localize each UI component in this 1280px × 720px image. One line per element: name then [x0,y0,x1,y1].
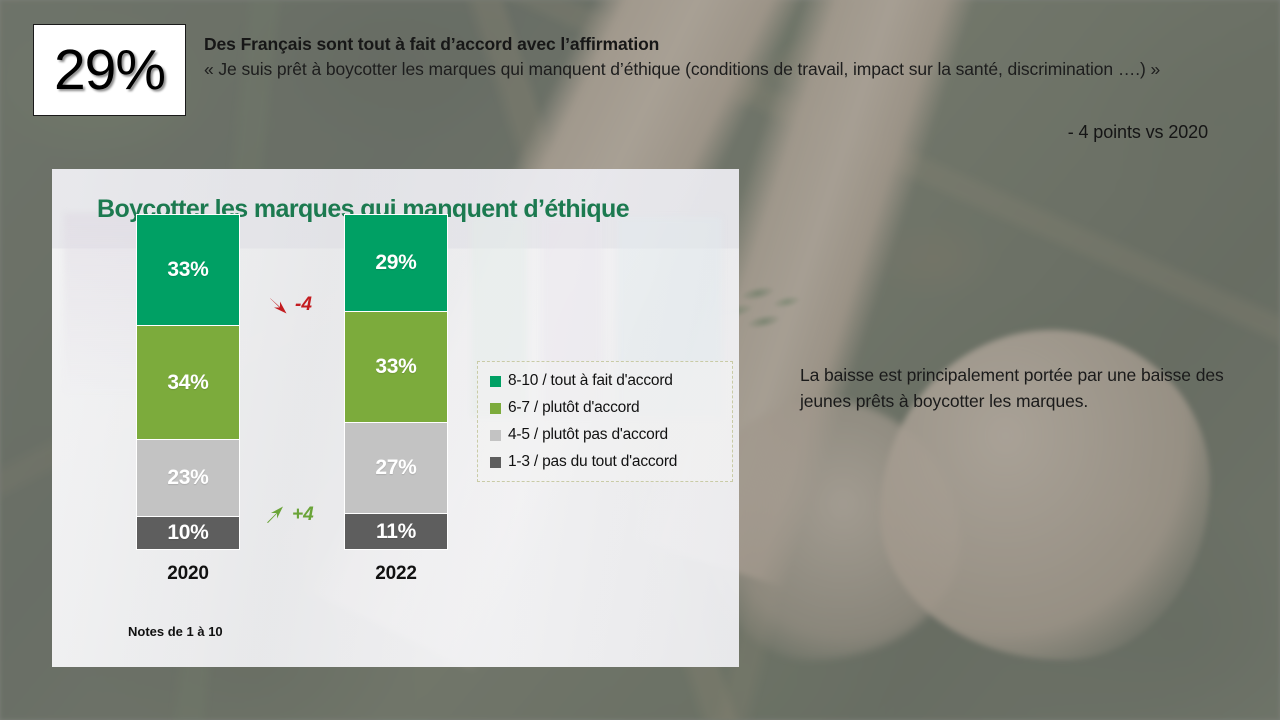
bar-segment-2022-8-10: 29% [344,214,448,312]
bar-segment-label: 29% [375,251,416,275]
chart-panel: Boycotter les marques qui manquent d’éth… [52,169,739,667]
legend-swatch-icon [490,430,501,441]
bar-segment-label: 27% [375,456,416,480]
arrow-down-right-icon [267,294,289,316]
bar-segment-label: 23% [167,466,208,490]
legend-swatch-icon [490,457,501,468]
kpi-box: 29% [33,24,186,116]
delta-annotation-up: +4 [264,504,314,526]
bar-segment-2022-4-5: 27% [344,422,448,514]
chart-plot-area: 33% 34% 23% 10% 29% 33% [52,169,739,667]
legend-item: 4-5 / plutôt pas d'accord [490,426,722,444]
bar-segment-label: 34% [167,371,208,395]
stacked-bar-2022: 29% 33% 27% 11% [344,214,448,549]
legend-item-label: 8-10 / tout à fait d'accord [508,372,673,390]
bar-segment-2020-1-3: 10% [136,516,240,550]
delta-note: - 4 points vs 2020 [0,122,1208,143]
bar-segment-label: 33% [167,258,208,282]
legend-swatch-icon [490,376,501,387]
bar-segment-2020-4-5: 23% [136,439,240,517]
x-axis-label-2020: 2020 [136,563,240,585]
chart-footnote: Notes de 1 à 10 [128,624,223,639]
kpi-value: 29% [54,42,165,99]
legend-item-label: 1-3 / pas du tout d'accord [508,453,677,471]
legend-swatch-icon [490,403,501,414]
bar-segment-2020-6-7: 34% [136,325,240,440]
delta-up-value: +4 [292,504,314,526]
bar-segment-2022-6-7: 33% [344,311,448,423]
legend-item-label: 6-7 / plutôt d'accord [508,399,639,417]
arrow-up-right-icon [264,504,286,526]
headline-block: Des Français sont tout à fait d’accord a… [204,33,1204,81]
x-axis-label-2022: 2022 [344,563,448,585]
legend-item-label: 4-5 / plutôt pas d'accord [508,426,668,444]
slide-root: 29% Des Français sont tout à fait d’acco… [0,0,1280,720]
legend-item: 6-7 / plutôt d'accord [490,399,722,417]
chart-legend: 8-10 / tout à fait d'accord 6-7 / plutôt… [477,361,733,482]
headline-quote-line: « Je suis prêt à boycotter les marques q… [204,57,1169,82]
bar-segment-label: 11% [376,520,416,544]
delta-down-value: -4 [295,294,312,316]
bar-segment-2022-1-3: 11% [344,513,448,550]
legend-item: 8-10 / tout à fait d'accord [490,372,722,390]
bar-segment-label: 10% [167,521,208,545]
bar-segment-2020-8-10: 33% [136,214,240,326]
delta-annotation-down: -4 [267,294,312,316]
legend-item: 1-3 / pas du tout d'accord [490,453,722,471]
bar-segment-label: 33% [375,355,416,379]
commentary-text: La baisse est principalement portée par … [800,363,1230,415]
stacked-bar-2020: 33% 34% 23% 10% [136,214,240,549]
headline-bold-line: Des Français sont tout à fait d’accord a… [204,33,1204,57]
